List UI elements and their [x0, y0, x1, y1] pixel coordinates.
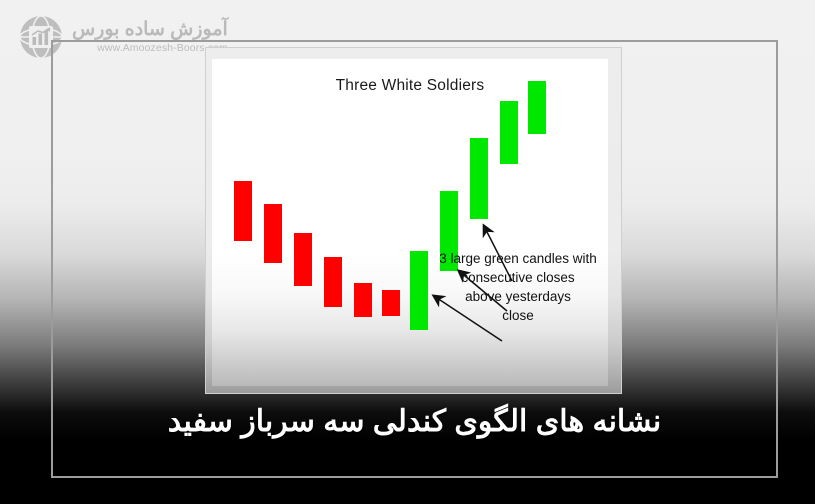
candle-3-down: [294, 233, 312, 286]
candle-4-down: [324, 257, 342, 307]
candle-7-up: [410, 251, 428, 330]
poster-canvas: آموزش ساده بورس www.Amoozesh-Boors.com T…: [0, 0, 815, 504]
annotation-text: 3 large green candles with consecutive c…: [434, 249, 602, 326]
candle-1-down: [234, 181, 252, 241]
candle-9-up: [470, 138, 488, 219]
candle-6-down: [382, 290, 400, 316]
brand-name-fa: آموزش ساده بورس: [72, 20, 228, 39]
candlestick-chart: Three White Soldiers 3 large green candl…: [212, 59, 608, 386]
candle-10-up: [500, 101, 518, 164]
candle-11-up: [528, 81, 546, 134]
poster-caption: نشانه های الگوی کندلی سه سرباز سفید: [51, 404, 778, 439]
candle-5-down: [354, 283, 372, 317]
chart-title: Three White Soldiers: [212, 77, 608, 95]
candle-2-down: [264, 204, 282, 263]
